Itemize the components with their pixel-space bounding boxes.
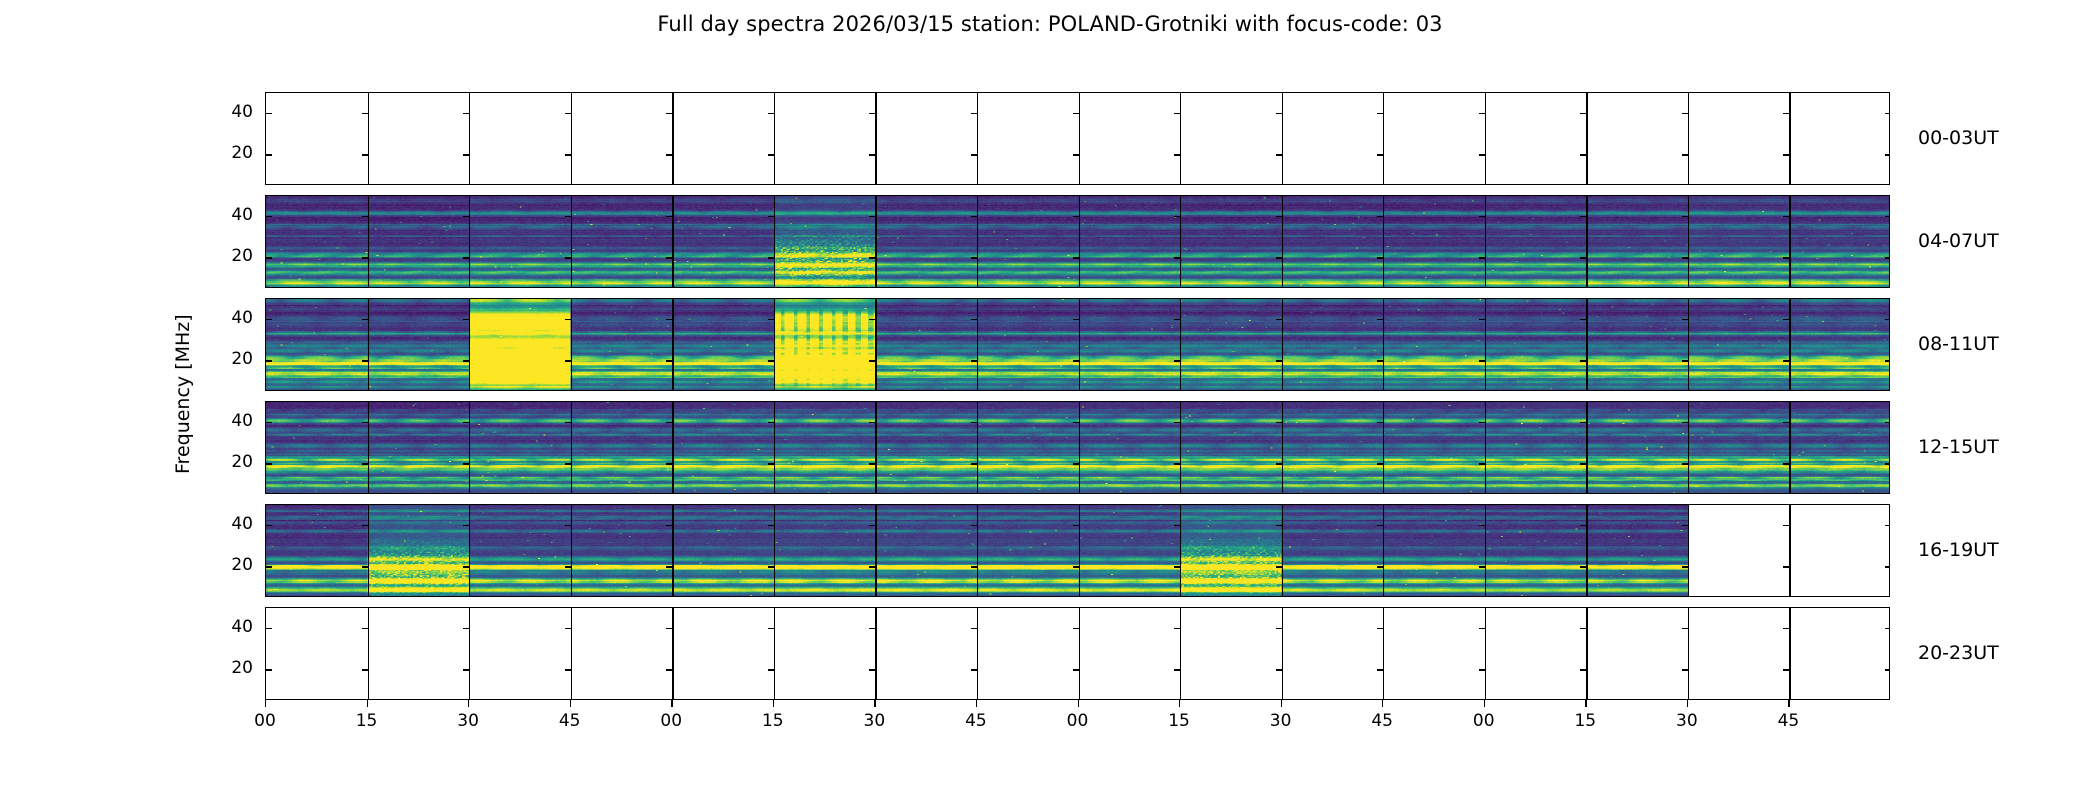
- y-tick-mark: [565, 566, 571, 567]
- y-tick-mark: [362, 628, 368, 629]
- y-tick-mark: [1479, 422, 1485, 423]
- y-tick-mark: [1073, 360, 1079, 361]
- y-tick-mark: [463, 525, 469, 526]
- y-tick-label: 40: [213, 308, 253, 328]
- y-tick-mark: [666, 113, 672, 114]
- y-tick-mark: [1377, 463, 1383, 464]
- y-tick-mark: [1174, 628, 1180, 629]
- row-label-12-15ut: 12-15UT: [1918, 436, 1999, 458]
- y-tick-mark: [1885, 319, 1890, 320]
- y-tick-mark: [971, 463, 977, 464]
- y-tick-mark: [1479, 525, 1485, 526]
- x-tick-mark: [1382, 700, 1383, 707]
- y-tick-mark: [1073, 257, 1079, 258]
- y-tick-mark: [1174, 154, 1180, 155]
- y-tick-mark: [869, 216, 875, 217]
- x-tick-mark: [265, 700, 266, 707]
- y-tick-mark: [971, 669, 977, 670]
- y-tick-mark: [1783, 360, 1789, 361]
- row-label-20-23ut: 20-23UT: [1918, 642, 1999, 664]
- y-tick-mark: [1682, 216, 1688, 217]
- y-tick-mark: [768, 257, 774, 258]
- x-tick-label: 00: [1462, 711, 1506, 731]
- y-tick-mark: [1377, 257, 1383, 258]
- y-tick-mark: [971, 525, 977, 526]
- y-tick-mark: [1783, 257, 1789, 258]
- y-tick-mark: [1783, 463, 1789, 464]
- y-tick-mark: [1783, 525, 1789, 526]
- y-tick-mark: [971, 422, 977, 423]
- y-tick-mark: [1174, 360, 1180, 361]
- column-dividers: [266, 93, 1889, 184]
- y-tick-mark: [869, 525, 875, 526]
- y-tick-mark: [565, 113, 571, 114]
- plot-area: [265, 92, 1890, 700]
- y-tick-mark: [266, 154, 272, 155]
- spectrogram-image: [266, 299, 1890, 390]
- y-tick-mark: [1783, 113, 1789, 114]
- x-tick-mark: [1585, 700, 1586, 707]
- y-tick-mark: [565, 319, 571, 320]
- x-tick-mark: [1078, 700, 1079, 707]
- y-tick-mark: [362, 113, 368, 114]
- y-tick-mark: [1073, 566, 1079, 567]
- y-tick-label: 40: [213, 617, 253, 637]
- y-tick-mark: [768, 525, 774, 526]
- x-tick-mark: [1281, 700, 1282, 707]
- y-tick-mark: [565, 257, 571, 258]
- x-tick-label: 45: [548, 711, 592, 731]
- y-tick-mark: [768, 216, 774, 217]
- y-tick-mark: [1580, 216, 1586, 217]
- y-tick-mark: [362, 566, 368, 567]
- x-axis: 00153045001530450015304500153045: [265, 700, 1890, 740]
- y-tick-mark: [362, 669, 368, 670]
- x-tick-mark: [874, 700, 875, 707]
- y-tick-mark: [1885, 463, 1890, 464]
- y-tick-mark: [266, 525, 272, 526]
- y-tick-mark: [768, 628, 774, 629]
- y-tick-mark: [666, 154, 672, 155]
- y-tick-mark: [869, 319, 875, 320]
- y-tick-mark: [362, 257, 368, 258]
- y-tick-mark: [1073, 319, 1079, 320]
- y-tick-mark: [1479, 257, 1485, 258]
- y-tick-mark: [463, 257, 469, 258]
- y-tick-mark: [565, 628, 571, 629]
- y-tick-mark: [1479, 113, 1485, 114]
- x-tick-mark: [976, 700, 977, 707]
- y-tick-mark: [1580, 257, 1586, 258]
- y-tick-mark: [565, 360, 571, 361]
- row-label-00-03ut: 00-03UT: [1918, 127, 1999, 149]
- y-tick-mark: [266, 669, 272, 670]
- x-tick-label: 45: [954, 711, 998, 731]
- y-tick-mark: [1580, 319, 1586, 320]
- y-tick-mark: [362, 360, 368, 361]
- y-tick-mark: [1377, 154, 1383, 155]
- y-tick-mark: [1682, 628, 1688, 629]
- y-tick-mark: [1073, 154, 1079, 155]
- y-tick-mark: [1377, 422, 1383, 423]
- y-tick-mark: [971, 360, 977, 361]
- y-tick-mark: [1174, 319, 1180, 320]
- y-tick-label: 40: [213, 411, 253, 431]
- y-tick-mark: [666, 257, 672, 258]
- y-tick-mark: [1073, 422, 1079, 423]
- y-tick-mark: [266, 319, 272, 320]
- y-tick-mark: [666, 360, 672, 361]
- y-tick-mark: [1174, 525, 1180, 526]
- y-tick-mark: [1479, 360, 1485, 361]
- y-tick-mark: [1885, 669, 1890, 670]
- y-tick-mark: [1073, 628, 1079, 629]
- x-tick-label: 15: [751, 711, 795, 731]
- y-tick-mark: [768, 319, 774, 320]
- y-tick-mark: [768, 113, 774, 114]
- y-tick-mark: [266, 463, 272, 464]
- x-tick-mark: [468, 700, 469, 707]
- y-tick-mark: [1479, 216, 1485, 217]
- x-tick-label: 30: [1259, 711, 1303, 731]
- y-tick-mark: [565, 463, 571, 464]
- y-tick-mark: [463, 669, 469, 670]
- y-tick-mark: [1377, 113, 1383, 114]
- y-tick-mark: [768, 463, 774, 464]
- y-tick-mark: [362, 216, 368, 217]
- y-tick-mark: [266, 628, 272, 629]
- y-tick-mark: [1377, 566, 1383, 567]
- y-tick-mark: [266, 113, 272, 114]
- spectrogram-image: [266, 402, 1890, 493]
- spectra-row-20-23ut[interactable]: [265, 607, 1890, 700]
- x-tick-label: 45: [1766, 711, 1810, 731]
- y-tick-mark: [1885, 113, 1890, 114]
- y-tick-mark: [1682, 525, 1688, 526]
- y-tick-mark: [463, 628, 469, 629]
- y-tick-mark: [1276, 360, 1282, 361]
- y-tick-label: 40: [213, 102, 253, 122]
- y-tick-mark: [1885, 257, 1890, 258]
- y-tick-mark: [666, 628, 672, 629]
- y-tick-mark: [666, 216, 672, 217]
- y-tick-mark: [1580, 669, 1586, 670]
- y-tick-mark: [463, 360, 469, 361]
- y-tick-mark: [1682, 360, 1688, 361]
- y-tick-mark: [1783, 154, 1789, 155]
- y-tick-mark: [869, 113, 875, 114]
- y-tick-mark: [768, 669, 774, 670]
- y-tick-mark: [266, 216, 272, 217]
- y-tick-mark: [1885, 566, 1890, 567]
- y-tick-mark: [1174, 669, 1180, 670]
- y-tick-mark: [1276, 154, 1282, 155]
- x-tick-mark: [570, 700, 571, 707]
- x-tick-label: 15: [1563, 711, 1607, 731]
- x-tick-label: 30: [1665, 711, 1709, 731]
- page-title: Full day spectra 2026/03/15 station: POL…: [0, 12, 2100, 36]
- y-tick-mark: [1073, 463, 1079, 464]
- y-tick-mark: [362, 463, 368, 464]
- y-tick-mark: [1783, 319, 1789, 320]
- y-tick-mark: [1885, 360, 1890, 361]
- y-tick-label: 20: [213, 555, 253, 575]
- y-tick-mark: [565, 525, 571, 526]
- y-tick-mark: [565, 154, 571, 155]
- y-tick-mark: [666, 525, 672, 526]
- spectra-figure: Full day spectra 2026/03/15 station: POL…: [0, 0, 2100, 800]
- y-tick-mark: [869, 257, 875, 258]
- y-tick-label: 20: [213, 246, 253, 266]
- spectra-row-16-19ut[interactable]: [265, 504, 1890, 597]
- y-tick-mark: [463, 154, 469, 155]
- y-tick-mark: [463, 422, 469, 423]
- y-tick-mark: [1073, 525, 1079, 526]
- y-tick-mark: [869, 360, 875, 361]
- y-tick-mark: [971, 566, 977, 567]
- y-tick-mark: [1377, 216, 1383, 217]
- y-tick-mark: [1174, 257, 1180, 258]
- y-tick-mark: [666, 566, 672, 567]
- row-label-08-11ut: 08-11UT: [1918, 333, 1999, 355]
- y-tick-label: 20: [213, 349, 253, 369]
- y-tick-mark: [1479, 463, 1485, 464]
- x-tick-label: 00: [1056, 711, 1100, 731]
- column-dividers: [266, 608, 1889, 699]
- y-tick-mark: [1885, 216, 1890, 217]
- y-tick-mark: [565, 216, 571, 217]
- y-tick-mark: [666, 319, 672, 320]
- x-tick-mark: [671, 700, 672, 707]
- y-tick-mark: [565, 669, 571, 670]
- spectra-row-00-03ut[interactable]: [265, 92, 1890, 185]
- y-tick-mark: [565, 422, 571, 423]
- y-tick-mark: [463, 113, 469, 114]
- y-tick-mark: [1580, 525, 1586, 526]
- y-tick-mark: [362, 319, 368, 320]
- y-tick-label: 20: [213, 452, 253, 472]
- y-tick-mark: [1885, 628, 1890, 629]
- y-tick-mark: [1479, 628, 1485, 629]
- y-tick-mark: [869, 628, 875, 629]
- y-tick-mark: [362, 422, 368, 423]
- y-tick-mark: [1783, 669, 1789, 670]
- y-tick-mark: [1276, 113, 1282, 114]
- y-tick-mark: [1580, 463, 1586, 464]
- y-tick-mark: [463, 566, 469, 567]
- x-tick-label: 00: [243, 711, 287, 731]
- x-tick-mark: [1788, 700, 1789, 707]
- y-tick-mark: [1783, 566, 1789, 567]
- y-tick-mark: [362, 154, 368, 155]
- y-tick-mark: [1377, 360, 1383, 361]
- spectrogram-image: [266, 505, 1688, 596]
- x-tick-label: 45: [1360, 711, 1404, 731]
- y-tick-mark: [971, 113, 977, 114]
- y-tick-label: 40: [213, 514, 253, 534]
- y-tick-mark: [768, 360, 774, 361]
- y-tick-label: 20: [213, 658, 253, 678]
- y-tick-mark: [266, 422, 272, 423]
- y-tick-mark: [1276, 319, 1282, 320]
- y-tick-mark: [1276, 463, 1282, 464]
- y-tick-mark: [266, 257, 272, 258]
- y-tick-mark: [1783, 628, 1789, 629]
- row-label-16-19ut: 16-19UT: [1918, 539, 1999, 561]
- y-tick-mark: [1276, 422, 1282, 423]
- y-tick-mark: [1580, 360, 1586, 361]
- y-tick-mark: [1377, 525, 1383, 526]
- y-tick-mark: [1580, 628, 1586, 629]
- spectra-row-04-07ut[interactable]: [265, 195, 1890, 288]
- x-tick-label: 00: [649, 711, 693, 731]
- spectra-row-12-15ut[interactable]: [265, 401, 1890, 494]
- spectrogram-image: [266, 196, 1890, 287]
- x-tick-mark: [1687, 700, 1688, 707]
- x-tick-label: 30: [852, 711, 896, 731]
- y-tick-mark: [1885, 525, 1890, 526]
- y-tick-mark: [1682, 669, 1688, 670]
- y-tick-mark: [1174, 216, 1180, 217]
- y-tick-mark: [1174, 463, 1180, 464]
- y-tick-mark: [1276, 628, 1282, 629]
- y-tick-label: 40: [213, 205, 253, 225]
- x-tick-label: 15: [345, 711, 389, 731]
- y-tick-mark: [1682, 113, 1688, 114]
- y-tick-mark: [1682, 463, 1688, 464]
- y-tick-mark: [666, 669, 672, 670]
- y-tick-mark: [1885, 422, 1890, 423]
- y-tick-mark: [971, 154, 977, 155]
- y-tick-mark: [1682, 566, 1688, 567]
- y-tick-mark: [1580, 113, 1586, 114]
- y-tick-mark: [1479, 669, 1485, 670]
- y-tick-mark: [1377, 669, 1383, 670]
- y-tick-mark: [1276, 257, 1282, 258]
- y-tick-mark: [463, 463, 469, 464]
- row-label-04-07ut: 04-07UT: [1918, 230, 1999, 252]
- y-tick-mark: [1479, 566, 1485, 567]
- y-tick-mark: [463, 319, 469, 320]
- y-tick-mark: [971, 628, 977, 629]
- y-tick-mark: [1580, 566, 1586, 567]
- y-tick-mark: [1276, 669, 1282, 670]
- y-tick-mark: [1580, 154, 1586, 155]
- y-tick-mark: [266, 566, 272, 567]
- x-tick-label: 30: [446, 711, 490, 731]
- y-tick-mark: [1073, 113, 1079, 114]
- y-tick-mark: [1174, 422, 1180, 423]
- y-tick-mark: [1377, 628, 1383, 629]
- y-tick-mark: [869, 463, 875, 464]
- y-tick-mark: [1885, 154, 1890, 155]
- y-tick-mark: [1479, 319, 1485, 320]
- y-tick-mark: [666, 463, 672, 464]
- x-tick-label: 15: [1157, 711, 1201, 731]
- y-tick-mark: [1174, 113, 1180, 114]
- y-tick-mark: [1377, 319, 1383, 320]
- y-tick-mark: [971, 319, 977, 320]
- y-tick-mark: [869, 669, 875, 670]
- y-tick-mark: [1682, 422, 1688, 423]
- y-tick-mark: [1479, 154, 1485, 155]
- y-tick-mark: [768, 422, 774, 423]
- y-tick-mark: [971, 216, 977, 217]
- y-tick-mark: [869, 566, 875, 567]
- y-tick-mark: [1580, 422, 1586, 423]
- y-tick-mark: [1276, 525, 1282, 526]
- y-tick-mark: [1682, 319, 1688, 320]
- y-tick-mark: [1276, 566, 1282, 567]
- y-tick-mark: [1174, 566, 1180, 567]
- y-tick-mark: [1682, 257, 1688, 258]
- y-tick-mark: [1783, 422, 1789, 423]
- y-tick-mark: [1073, 216, 1079, 217]
- y-tick-mark: [768, 566, 774, 567]
- y-tick-mark: [666, 422, 672, 423]
- y-tick-mark: [1783, 216, 1789, 217]
- y-tick-mark: [1276, 216, 1282, 217]
- y-tick-mark: [971, 257, 977, 258]
- x-tick-mark: [367, 700, 368, 707]
- y-tick-mark: [1073, 669, 1079, 670]
- y-tick-mark: [1682, 154, 1688, 155]
- y-tick-label: 20: [213, 143, 253, 163]
- y-tick-mark: [266, 360, 272, 361]
- y-tick-mark: [463, 216, 469, 217]
- y-tick-mark: [869, 154, 875, 155]
- y-tick-mark: [362, 525, 368, 526]
- y-tick-mark: [768, 154, 774, 155]
- x-tick-mark: [773, 700, 774, 707]
- y-axis-label: Frequency [MHz]: [172, 314, 194, 474]
- spectra-row-08-11ut[interactable]: [265, 298, 1890, 391]
- x-tick-mark: [1179, 700, 1180, 707]
- x-tick-mark: [1484, 700, 1485, 707]
- y-tick-mark: [869, 422, 875, 423]
